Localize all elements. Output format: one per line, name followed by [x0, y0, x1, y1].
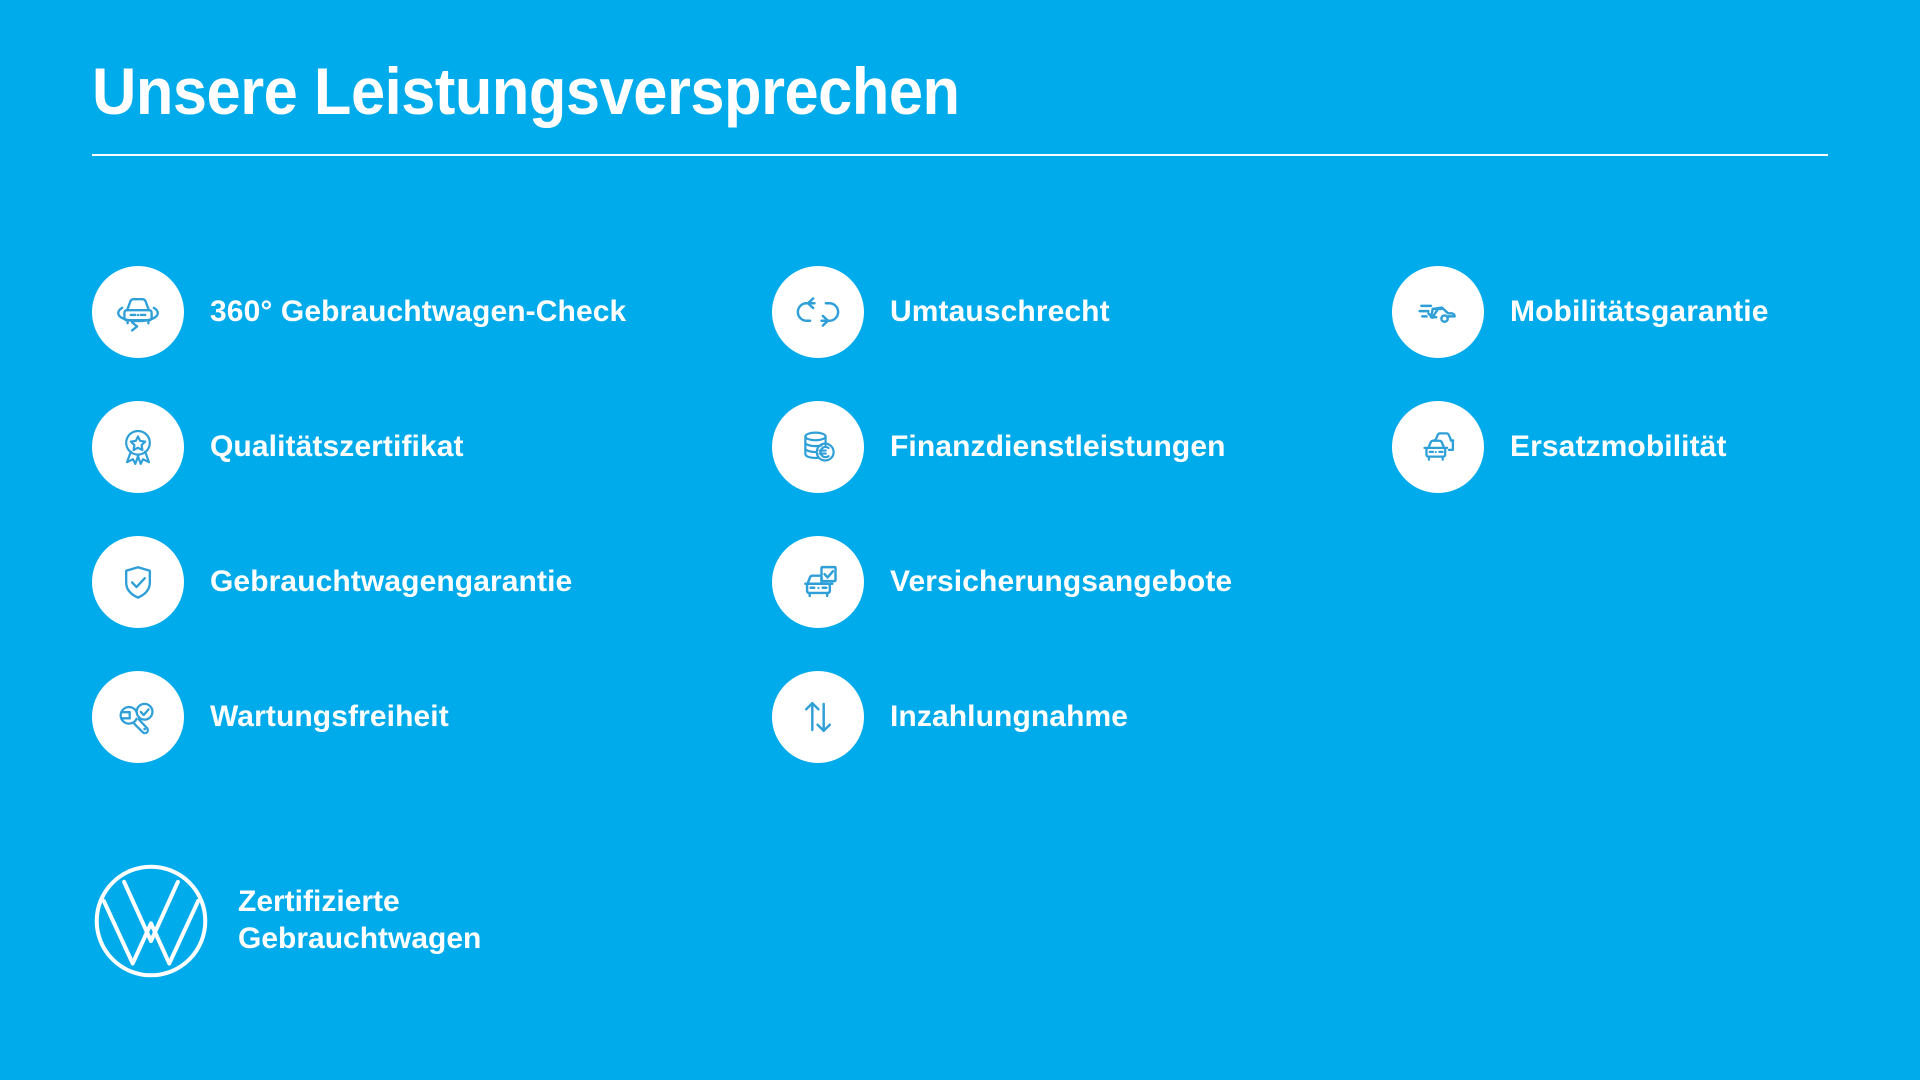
feature-label: Inzahlungnahme — [890, 700, 1128, 735]
feature-item-umtauschrecht[interactable]: Umtauschrecht — [772, 262, 1392, 362]
slide-root: Unsere Leistungsversprechen 360° Gebrauc… — [0, 0, 1920, 1080]
exchange-arrows-icon — [772, 266, 864, 358]
volkswagen-logo — [92, 862, 210, 980]
arrows-up-down-icon — [772, 671, 864, 763]
shield-check-icon — [92, 536, 184, 628]
page-title: Unsere Leistungsversprechen — [92, 58, 1706, 124]
coin-stack-euro-icon — [772, 401, 864, 493]
footer-logo-lockup: Zertifizierte Gebrauchtwagen — [92, 862, 481, 980]
feature-item-wartungsfreiheit[interactable]: Wartungsfreiheit — [92, 667, 772, 767]
feature-item-versicherungsangebote[interactable]: Versicherungsangebote — [772, 532, 1392, 632]
feature-item-ersatzmobilitaet[interactable]: Ersatzmobilität — [1392, 397, 1852, 497]
feature-label: Gebrauchtwagengarantie — [210, 565, 572, 600]
feature-item-inzahlungnahme[interactable]: Inzahlungnahme — [772, 667, 1392, 767]
feature-label: Finanzdienstleistungen — [890, 430, 1226, 465]
feature-label: Wartungsfreiheit — [210, 700, 449, 735]
wrench-check-icon — [92, 671, 184, 763]
feature-label: Versicherungsangebote — [890, 565, 1232, 600]
feature-label: Qualitätszertifikat — [210, 430, 464, 465]
car-speed-check-icon — [1392, 266, 1484, 358]
feature-label: Umtauschrecht — [890, 295, 1110, 330]
feature-item-gebrauchtwagengarantie[interactable]: Gebrauchtwagengarantie — [92, 532, 772, 632]
feature-item-qualitaetszertifikat[interactable]: Qualitätszertifikat — [92, 397, 772, 497]
car-360-rotation-icon — [92, 266, 184, 358]
feature-label: Ersatzmobilität — [1510, 430, 1727, 465]
title-divider — [92, 154, 1828, 156]
feature-label: Mobilitätsgarantie — [1510, 295, 1769, 330]
feature-item-360-check[interactable]: 360° Gebrauchtwagen-Check — [92, 262, 772, 362]
feature-item-finanzdienstleistungen[interactable]: Finanzdienstleistungen — [772, 397, 1392, 497]
award-rosette-star-icon — [92, 401, 184, 493]
feature-label: 360° Gebrauchtwagen-Check — [210, 295, 626, 330]
two-cars-icon — [1392, 401, 1484, 493]
header: Unsere Leistungsversprechen — [92, 58, 1828, 156]
feature-item-mobilitaetsgarantie[interactable]: Mobilitätsgarantie — [1392, 262, 1852, 362]
footer-caption: Zertifizierte Gebrauchtwagen — [238, 884, 481, 957]
car-checkbox-icon — [772, 536, 864, 628]
feature-grid: 360° Gebrauchtwagen-Check Umtauschrecht — [92, 262, 1852, 802]
